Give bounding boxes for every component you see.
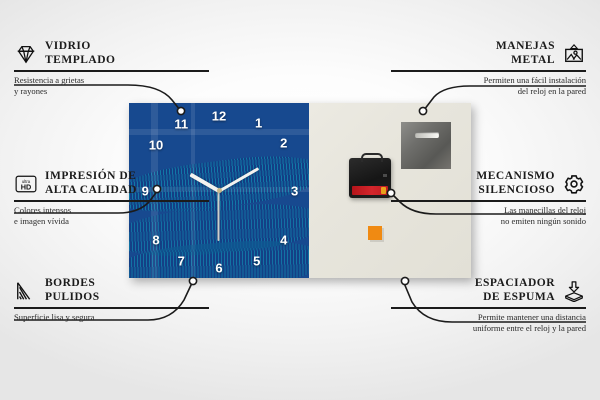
feature-desc-line2: e imagen vívida <box>14 216 69 226</box>
clock-numeral: 7 <box>178 254 185 267</box>
feature-title-line2: METAL <box>511 54 555 66</box>
feature-desc-line1: Permiten una fácil instalación <box>484 75 586 85</box>
mechanism-detail <box>383 174 387 177</box>
feature-title-line1: ESPACIADOR <box>475 277 555 289</box>
clock-mechanism <box>349 158 391 198</box>
feature-title-line1: MANEJAS <box>496 40 555 52</box>
battery-tip <box>381 187 386 194</box>
feature-bordes-pulidos: BORDES PULIDOS Superficie lisa y segura <box>14 277 209 323</box>
feature-desc-line1: Permite mantener una distancia <box>478 312 586 322</box>
feature-mecanismo-silencioso: MECANISMO SILENCIOSO Las manecillas del … <box>391 170 586 227</box>
feature-title-line2: ALTA CALIDAD <box>45 184 137 196</box>
feature-title-line2: SILENCIOSO <box>478 184 555 196</box>
hanger-slot <box>415 132 439 138</box>
clock-numeral: 1 <box>255 117 262 130</box>
divider <box>391 70 586 72</box>
picture-frame-hanger-icon <box>562 43 586 65</box>
feature-desc-line2: del reloj en la pared <box>518 86 586 96</box>
feature-desc-line1: Superficie lisa y segura <box>14 312 94 322</box>
feature-espaciador-espuma: ESPACIADOR DE ESPUMA Permite mantener un… <box>391 277 586 334</box>
clock-numeral: 11 <box>174 118 188 131</box>
feature-desc-line2: uniforme entre el reloj y la pared <box>473 323 586 333</box>
feature-title-line1: BORDES <box>45 277 95 289</box>
arrow-press-block-icon <box>562 280 586 302</box>
clock-numeral: 8 <box>152 233 159 246</box>
infographic-canvas: 12 1 2 3 4 5 6 7 8 9 10 11 <box>0 0 600 400</box>
divider <box>14 307 209 309</box>
mechanism-handle <box>361 153 383 162</box>
clock-numeral: 5 <box>253 254 260 267</box>
clock-numeral: 10 <box>149 139 163 152</box>
divider <box>14 200 209 202</box>
clock-numeral: 4 <box>280 233 287 246</box>
divider <box>391 200 586 202</box>
battery <box>352 186 388 195</box>
clock-center-cap <box>217 188 222 193</box>
clock-numeral: 2 <box>280 137 287 150</box>
foam-spacer <box>368 226 382 240</box>
clock-numeral: 12 <box>212 110 226 123</box>
feature-desc-line2: y rayones <box>14 86 47 96</box>
feature-title-line2: DE ESPUMA <box>483 291 555 303</box>
feature-desc-line1: Colores intensos <box>14 205 71 215</box>
gear-icon <box>562 173 586 195</box>
feature-title-line1: MECANISMO <box>476 170 555 182</box>
feature-title-line2: TEMPLADO <box>45 54 115 66</box>
ultra-hd-icon: ultra HD <box>14 173 38 195</box>
feature-desc-line1: Resistencia a grietas <box>14 75 84 85</box>
feature-title-line1: IMPRESIÓN DE <box>45 170 136 182</box>
feature-desc-line2: no emiten ningún sonido <box>501 216 586 226</box>
ultra-hd-bottom-text: HD <box>21 182 32 191</box>
polished-edge-icon <box>14 280 38 302</box>
feature-desc-line1: Las manecillas del reloj <box>504 205 586 215</box>
feature-title-line2: PULIDOS <box>45 291 100 303</box>
clock-numeral: 3 <box>291 184 298 197</box>
diamond-icon <box>14 43 38 65</box>
divider <box>391 307 586 309</box>
clock-numeral: 6 <box>215 261 222 274</box>
feature-impresion-alta-calidad: ultra HD IMPRESIÓN DE ALTA CALIDAD Color… <box>14 170 209 227</box>
feature-vidrio-templado: VIDRIO TEMPLADO Resistencia a grietas y … <box>14 40 209 97</box>
divider <box>14 70 209 72</box>
feature-title-line1: VIDRIO <box>45 40 91 52</box>
feature-manejas-metal: MANEJAS METAL Permiten una fácil instala… <box>391 40 586 97</box>
metal-hanger-plate <box>401 122 451 169</box>
